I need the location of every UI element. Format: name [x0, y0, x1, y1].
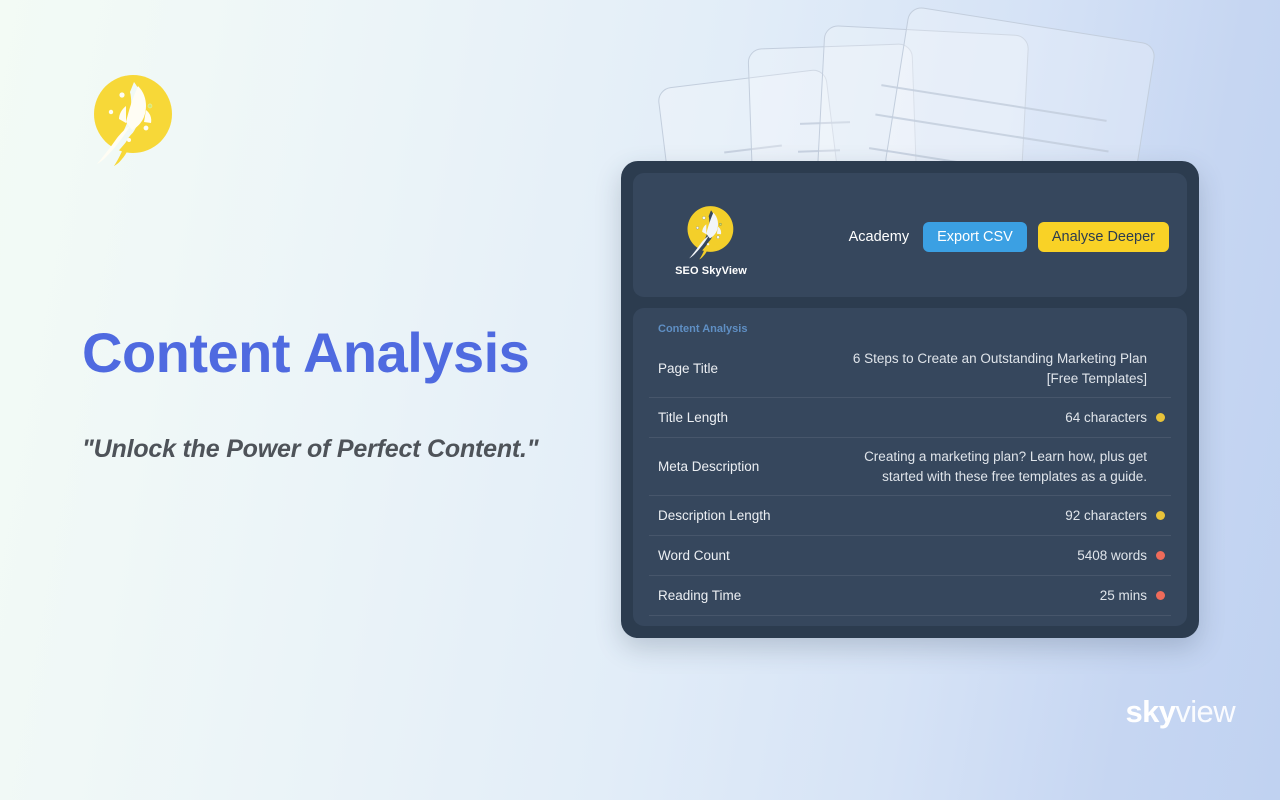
watermark-bold: sky [1125, 694, 1175, 729]
row-value-wrap: 5408 words [748, 546, 1165, 566]
row-value-wrap: 64 characters [746, 408, 1165, 428]
table-row: Meta DescriptionCreating a marketing pla… [649, 438, 1171, 496]
row-value: 64 characters [1065, 408, 1147, 428]
row-value: 6 Steps to Create an Outstanding Marketi… [847, 349, 1147, 388]
table-row: Title Length64 characters [649, 398, 1171, 438]
header-actions: Academy Export CSV Analyse Deeper [849, 222, 1173, 252]
row-label: Title Length [658, 410, 728, 425]
row-value: Creating a marketing plan? Learn how, pl… [847, 447, 1147, 486]
hero-text-block: Content Analysis "Unlock the Power of Pe… [82, 324, 622, 464]
skyview-watermark: skyview [1125, 696, 1235, 727]
page-title: Content Analysis [82, 324, 622, 383]
status-dot-bad [1156, 591, 1165, 600]
tagline: "Unlock the Power of Perfect Content." [82, 435, 622, 464]
app-brand-name: SEO SkyView [675, 265, 747, 277]
row-label: Meta Description [658, 459, 759, 474]
status-dot-warning [1156, 511, 1165, 520]
app-window: SEO SkyView Academy Export CSV Analyse D… [621, 161, 1199, 638]
row-label: Page Title [658, 361, 718, 376]
table-row: Word Count5408 words [649, 536, 1171, 576]
row-label: Reading Time [658, 588, 741, 603]
paper-line [875, 114, 1108, 152]
table-row: Page Title6 Steps to Create an Outstandi… [649, 340, 1171, 398]
row-value-wrap: 6 Steps to Create an Outstanding Marketi… [736, 349, 1165, 388]
status-dot-warning [1156, 413, 1165, 422]
watermark-light: view [1175, 694, 1235, 729]
row-value-wrap: 92 characters [789, 506, 1165, 526]
app-brand: SEO SkyView [651, 198, 771, 277]
export-csv-button[interactable]: Export CSV [923, 222, 1027, 252]
app-body-card: Content Analysis Page Title6 Steps to Cr… [633, 308, 1187, 626]
row-label: Description Length [658, 508, 771, 523]
app-header-bar: SEO SkyView Academy Export CSV Analyse D… [633, 173, 1187, 297]
paper-line [724, 144, 782, 153]
row-value: 25 mins [1100, 586, 1147, 606]
section-label: Content Analysis [658, 323, 1171, 335]
row-label: Word Count [658, 548, 730, 563]
row-value-wrap: Creating a marketing plan? Learn how, pl… [777, 447, 1165, 486]
content-analysis-table: Page Title6 Steps to Create an Outstandi… [649, 340, 1171, 616]
analyse-deeper-button[interactable]: Analyse Deeper [1038, 222, 1169, 252]
row-value: 5408 words [1077, 546, 1147, 566]
row-value-wrap: 25 mins [759, 586, 1165, 606]
rocket-moon-logo-icon [88, 62, 180, 166]
paper-line [881, 84, 1106, 121]
row-value: 92 characters [1065, 506, 1147, 526]
slide-canvas: Content Analysis "Unlock the Power of Pe… [0, 0, 1280, 800]
table-row: Reading Time25 mins [649, 576, 1171, 616]
paper-line [798, 149, 840, 152]
nav-link-academy[interactable]: Academy [849, 229, 909, 245]
table-row: Description Length92 characters [649, 496, 1171, 536]
rocket-moon-logo-icon [684, 198, 738, 260]
status-dot-bad [1156, 551, 1165, 560]
paper-line [800, 121, 850, 124]
